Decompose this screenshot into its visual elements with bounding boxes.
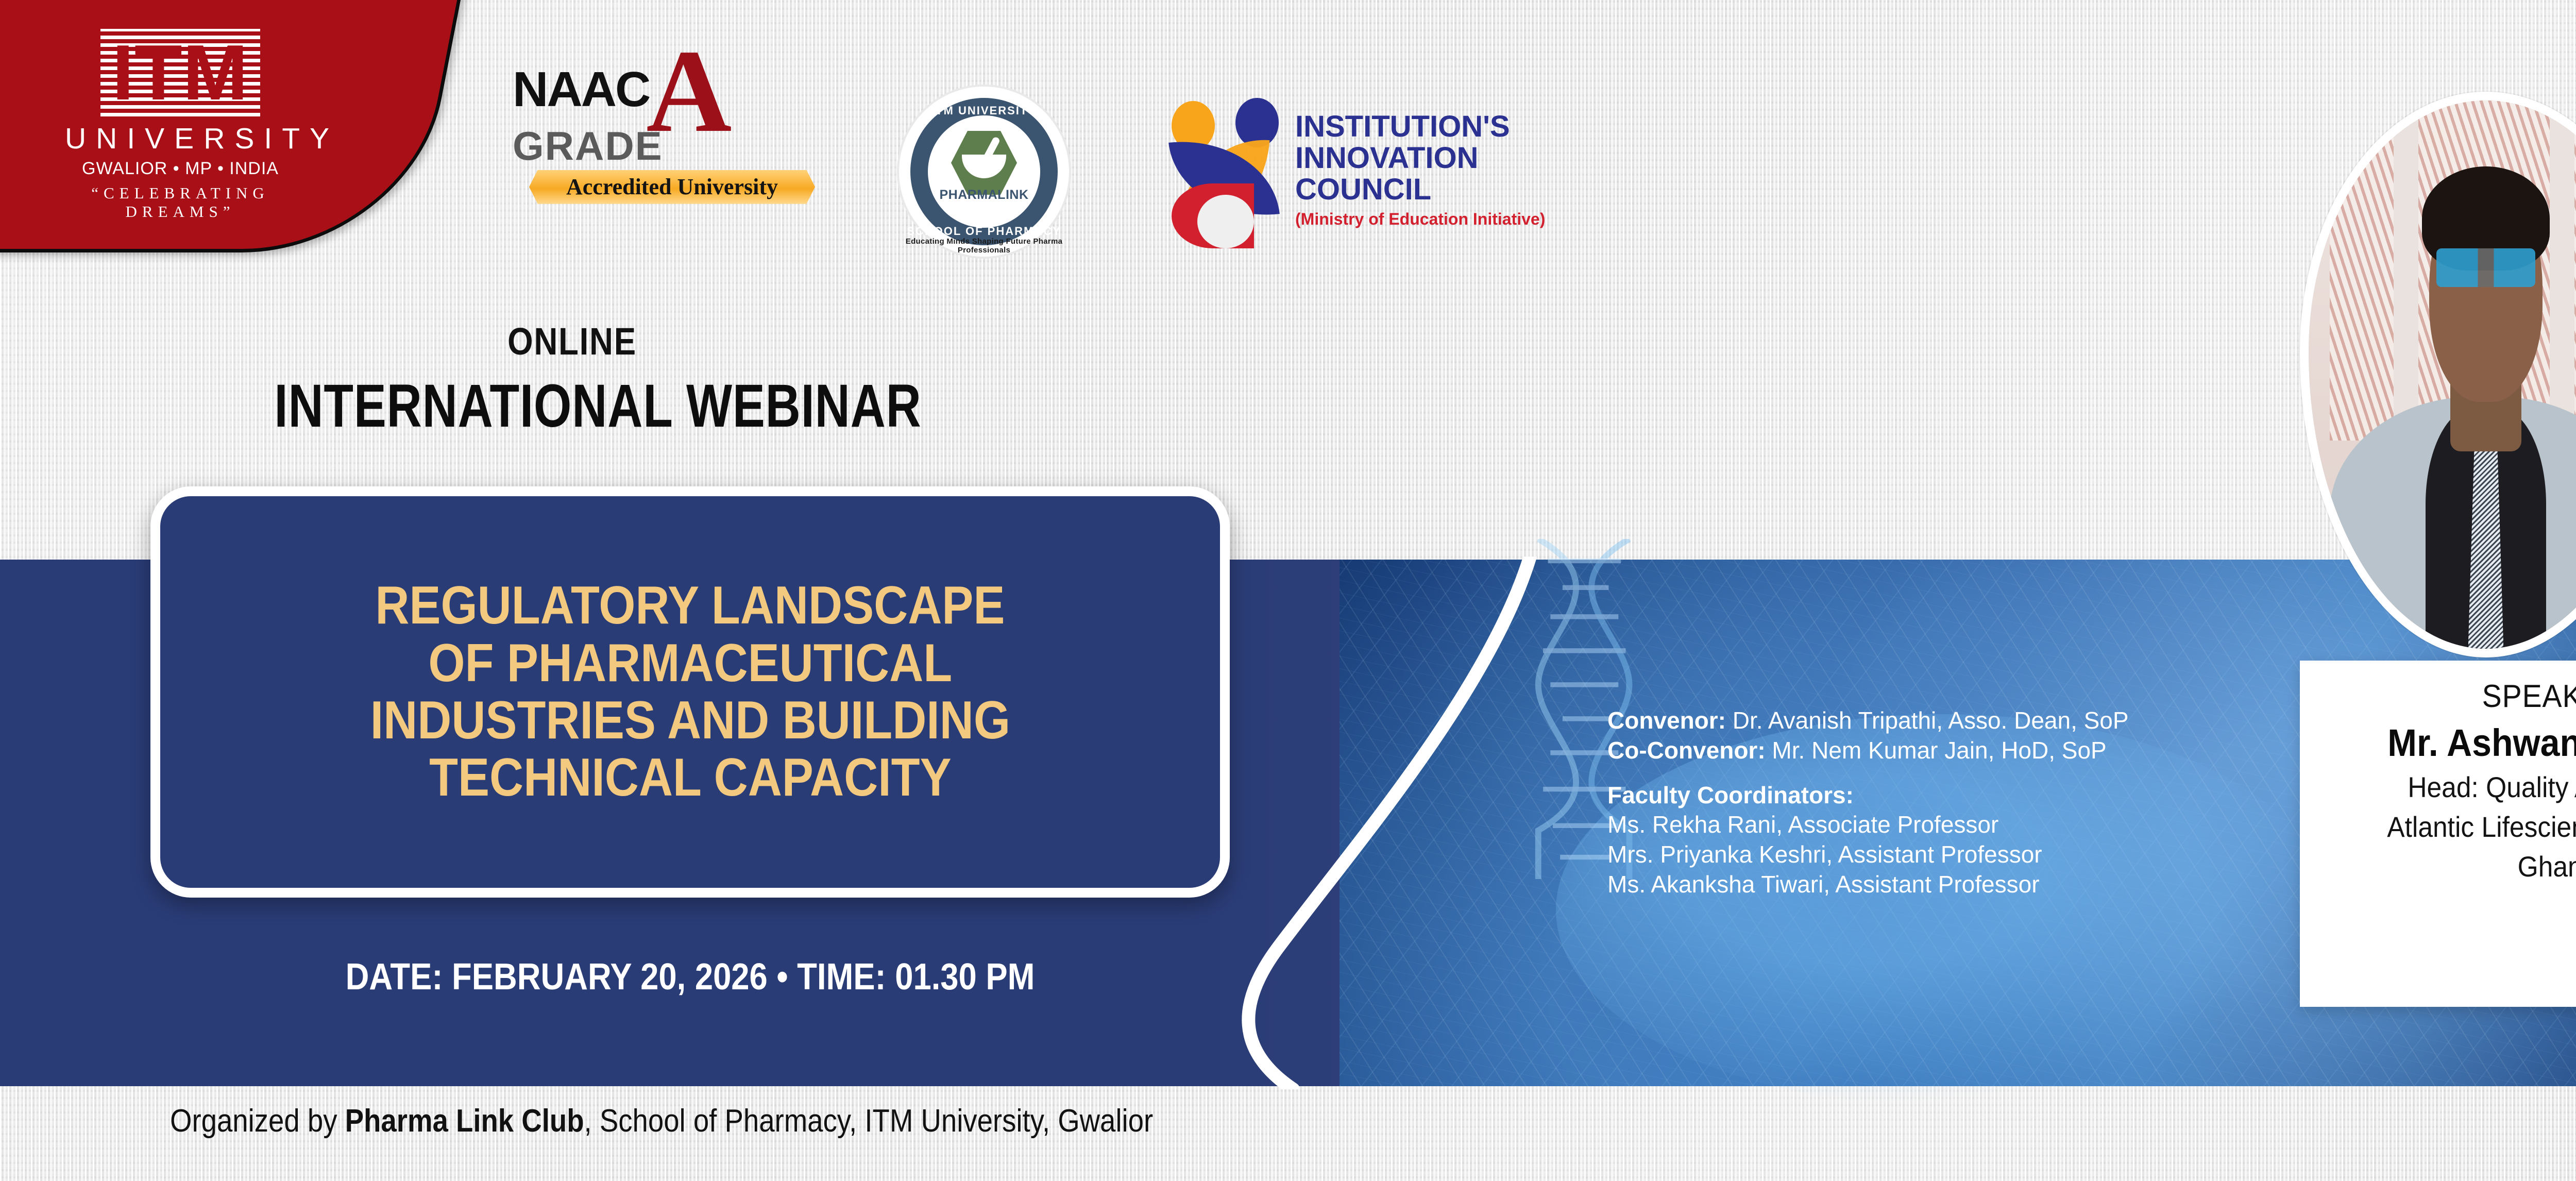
- date-time-line: DATE: FEBRUARY 20, 2026 • TIME: 01.30 PM: [215, 956, 1165, 998]
- organized-by-prefix: Organized by: [170, 1103, 345, 1139]
- convenor-value: Dr. Avanish Tripathi, Asso. Dean, SoP: [1726, 707, 2129, 734]
- faculty-coordinator-3: Ms. Akanksha Tiwari, Assistant Professor: [1607, 870, 2267, 900]
- speaker-portrait: [2300, 92, 2576, 657]
- seal-bottom-text: SCHOOL OF PHARMACY: [899, 225, 1069, 238]
- iic-line-3: COUNCIL: [1295, 174, 1545, 206]
- speaker-info-card: SPEAKER: Mr. Ashwani Tripathi Head: Qual…: [2300, 661, 2576, 1007]
- pharmalink-seal-logo: ITM UNIVERSITY PHARMALINK SCHOOL OF PHAR…: [899, 87, 1069, 257]
- itm-logo-location-text: GWALIOR • MP • INDIA: [57, 159, 304, 179]
- organized-by-suffix: , School of Pharmacy, ITM University, Gw…: [584, 1103, 1154, 1139]
- co-convenor-value: Mr. Nem Kumar Jain, HoD, SoP: [1766, 737, 2107, 764]
- headline-text: INTERNATIONAL WEBINAR: [120, 371, 1076, 441]
- speaker-label: SPEAKER:: [2335, 678, 2576, 715]
- institutions-innovation-council-logo: INSTITUTION'S INNOVATION COUNCIL (Minist…: [1159, 85, 1551, 255]
- speaker-role-line-1: Head: Quality Assurance,: [2335, 770, 2576, 804]
- title-line-3: INDUSTRIES AND BUILDING: [370, 692, 1010, 749]
- speaker-role-line-2: Atlantic Lifesciences Limited,: [2335, 809, 2576, 844]
- seal-outer-text: Educating Minds Shaping Future Pharma Pr…: [899, 237, 1069, 255]
- iic-line-1: INSTITUTION'S: [1295, 111, 1545, 143]
- title-line-1: REGULATORY LANDSCAPE: [375, 577, 1005, 634]
- webinar-banner: ITM UNIVERSITY GWALIOR • MP • INDIA “CEL…: [0, 0, 2576, 1181]
- itm-logo-mark-label: ITM: [100, 29, 260, 116]
- naac-accreditation-logo: NAAC A GRADE Accredited University: [513, 67, 822, 232]
- eyeglasses-icon: [2436, 248, 2536, 286]
- co-convenor-line: Co-Convenor: Mr. Nem Kumar Jain, HoD, So…: [1607, 736, 2267, 766]
- co-convenor-label: Co-Convenor:: [1607, 737, 1766, 764]
- speaker-name: Mr. Ashwani Tripathi: [2335, 721, 2576, 765]
- title-line-2: OF PHARMACEUTICAL: [428, 635, 952, 692]
- iic-figure-icon: [1159, 93, 1288, 247]
- organizing-club-name: Pharma Link Club: [345, 1103, 584, 1139]
- title-line-4: TECHNICAL CAPACITY: [429, 749, 952, 806]
- speaker-role-line-3: Ghana: [2335, 849, 2576, 884]
- naac-grade-letter: A: [646, 48, 732, 134]
- faculty-coordinators-heading: Faculty Coordinators:: [1607, 781, 2267, 809]
- itm-logo-tagline: “CELEBRATING DREAMS”: [57, 184, 304, 221]
- seal-top-text: ITM UNIVERSITY: [899, 104, 1069, 117]
- seal-center-label: PHARMALINK: [899, 188, 1069, 203]
- itm-logo-mark: ITM: [100, 29, 260, 116]
- iic-line-2: INNOVATION: [1295, 143, 1545, 174]
- naac-acronym: NAAC: [513, 67, 649, 112]
- kicker-text: ONLINE: [80, 319, 1064, 363]
- webinar-title-card: REGULATORY LANDSCAPE OF PHARMACEUTICAL I…: [150, 486, 1230, 898]
- itm-university-logo: ITM UNIVERSITY GWALIOR • MP • INDIA “CEL…: [57, 29, 304, 221]
- organized-by-line: Organized by Pharma Link Club, School of…: [170, 1103, 1153, 1139]
- faculty-coordinator-2: Mrs. Priyanka Keshri, Assistant Professo…: [1607, 840, 2267, 870]
- convenor-line: Convenor: Dr. Avanish Tripathi, Asso. De…: [1607, 706, 2267, 736]
- convenor-label: Convenor:: [1607, 707, 1726, 734]
- speaker-photo-frame: [2300, 92, 2576, 657]
- organiser-details: Convenor: Dr. Avanish Tripathi, Asso. De…: [1607, 706, 2267, 900]
- faculty-coordinator-1: Ms. Rekha Rani, Associate Professor: [1607, 810, 2267, 840]
- itm-logo-university-text: UNIVERSITY: [65, 122, 304, 156]
- naac-ribbon-label: Accredited University: [529, 170, 815, 204]
- iic-subtitle: (Ministry of Education Initiative): [1295, 210, 1545, 229]
- red-header-plate: ITM UNIVERSITY GWALIOR • MP • INDIA “CEL…: [0, 0, 464, 252]
